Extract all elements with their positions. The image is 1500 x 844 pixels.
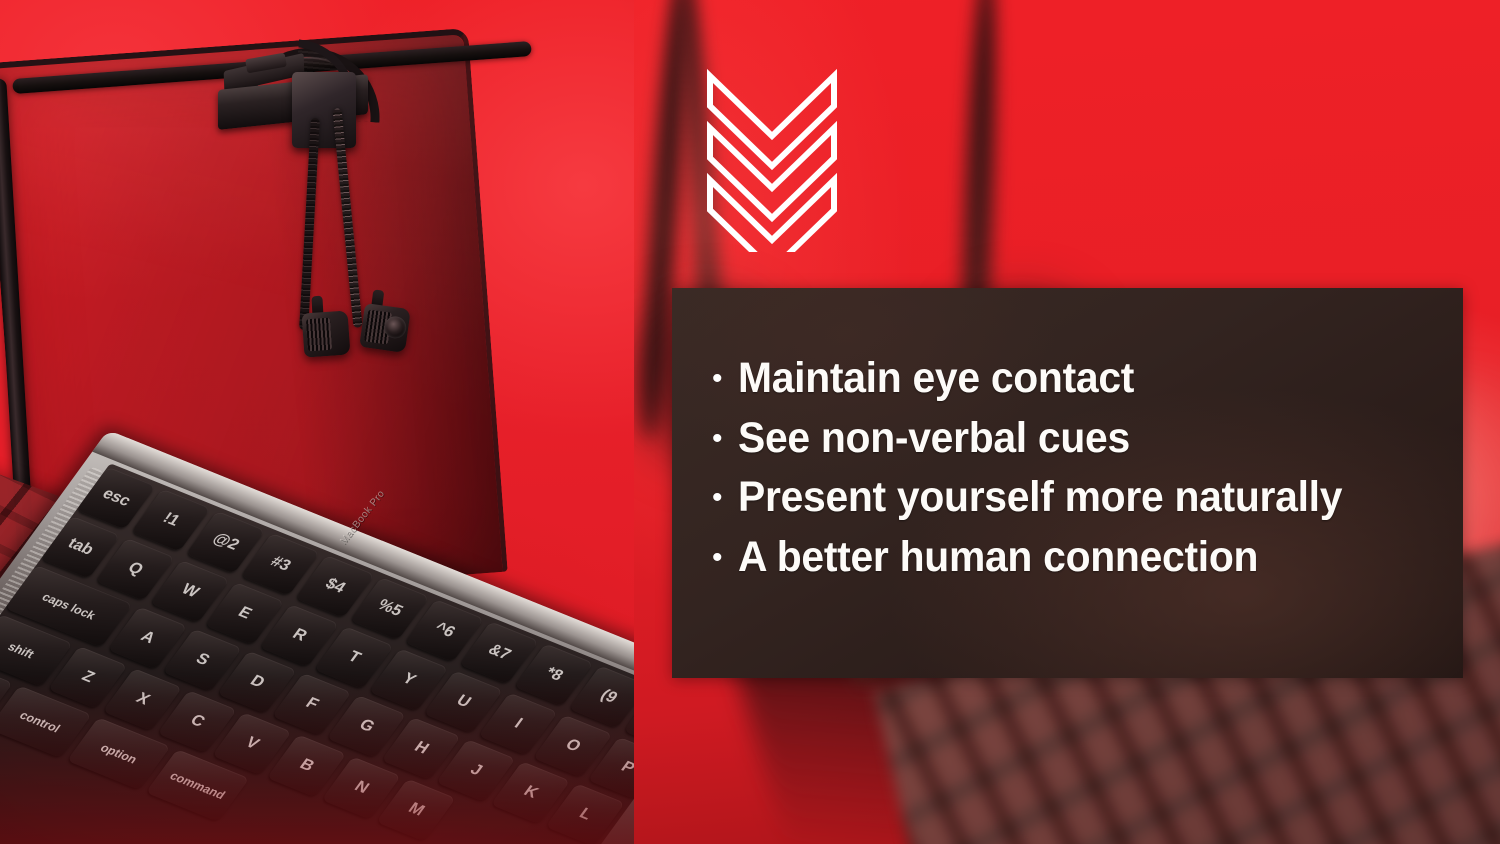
chevron-down-icon-2 [710,128,834,218]
keyboard-key-label: ^6 [415,613,474,647]
benefits-text-panel: • Maintain eye contact • See non-verbal … [672,288,1463,678]
list-item-label: Present yourself more naturally [738,475,1342,521]
keyboard-key-label: command [157,765,238,806]
product-photo-left: esc!1@2#3$4%5^6&7*8(9)0 tabQWERTYUIOP ca… [0,0,634,844]
keyboard-key-label: esc [87,481,146,515]
chevron-down-icon-1 [710,76,834,166]
list-item: • Present yourself more naturally [712,475,1439,521]
chevron-down-icon-group [706,66,838,252]
bullet-glyph: • [712,483,738,513]
camera-module-left [302,310,351,357]
keyboard-key-label: R [270,618,329,652]
bullet-glyph: • [712,364,738,394]
list-item: • See non-verbal cues [712,416,1439,462]
keyboard-key-label: H [392,731,451,765]
list-item-label: A better human connection [738,535,1258,581]
keyboard-key-label: shift [0,630,61,671]
keyboard-key-label: *8 [524,658,583,692]
keyboard-key-label: N [332,771,391,805]
keyboard-key-label: $4 [305,569,364,603]
keyboard-key-label: X [113,682,172,716]
keyboard-key-label: W [160,574,219,608]
camera-module-right [359,303,411,353]
list-item-label: Maintain eye contact [738,356,1134,402]
list-item-label: See non-verbal cues [738,416,1130,462]
keyboard-key-label: A [118,621,177,655]
keyboard-key-label: C [168,704,227,738]
keyboard-key-label: @2 [196,525,255,559]
keyboard-key-label: &7 [470,635,529,669]
benefits-list: • Maintain eye contact • See non-verbal … [712,356,1439,594]
keyboard-key-label: L [556,798,615,832]
clamp-block [292,72,356,148]
camera-ribs-left [306,318,332,352]
keyboard-key-label: U [434,685,493,719]
keyboard-key-label: S [173,643,232,677]
keyboard-key-label: (9 [579,680,634,714]
keyboard-key-label: %5 [360,591,419,625]
slide-canvas: esc!1@2#3$4%5^6&7*8(9)0 tabQWERTYUIOP ca… [0,0,1500,844]
keyboard-key-label: !1 [141,503,200,537]
keyboard-key-label: V [222,726,281,760]
keyboard-key-label: P [598,751,634,785]
keyboard-key-label: Q [106,552,165,586]
keyboard-key-label: #3 [251,547,310,581]
keyboard-key-label: caps lock [16,581,121,632]
keyboard-key-label: M [386,793,445,827]
keyboard-key-label: G [337,709,396,743]
keyboard-key-label: B [277,749,336,783]
keyboard-key-label: option [78,733,159,774]
keyboard-key-label: O [543,729,602,763]
bullet-glyph: • [712,424,738,454]
keyboard-key-label: D [227,665,286,699]
keyboard-key-label: Y [379,663,438,697]
keyboard-key-label: J [446,753,505,787]
keyboard-key-label: K [501,775,560,809]
keyboard-key-label: T [324,640,383,674]
keyboard-key-label: Z [58,660,117,694]
keyboard-key-label: F [282,687,341,721]
list-item: • A better human connection [712,535,1439,581]
keyboard-key-label: tab [51,530,110,564]
keyboard-key-label: E [215,596,274,630]
bullet-glyph: • [712,543,738,573]
keyboard-key-label: I [488,707,547,741]
keyboard-key-label: control [0,701,80,742]
list-item: • Maintain eye contact [712,356,1439,402]
